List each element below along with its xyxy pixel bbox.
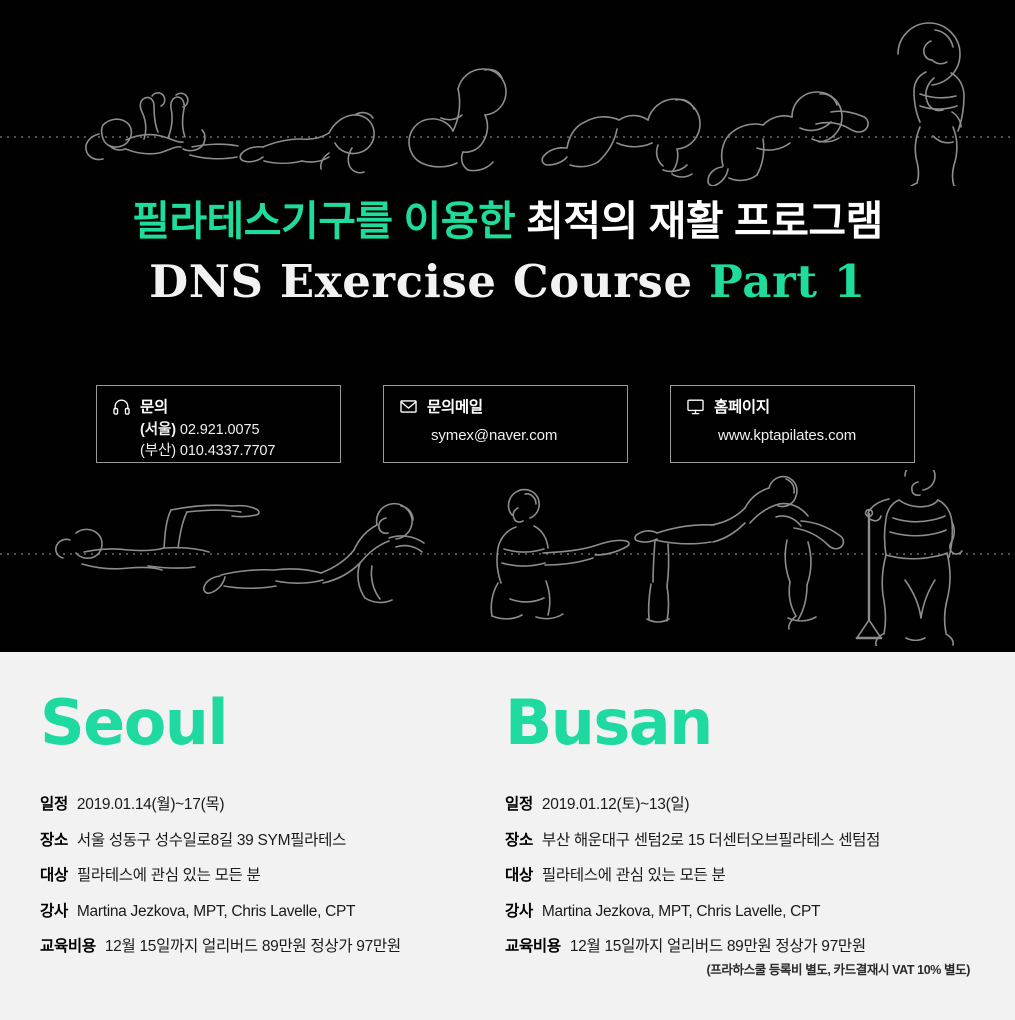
- headline-english: DNS Exercise Course Part 1: [0, 257, 1015, 307]
- contact-box-website-title: 홈페이지: [714, 395, 770, 417]
- contact-box-website-body: www.kptapilates.com: [686, 425, 914, 446]
- baby-kneeling-icon: [708, 92, 868, 186]
- course-row-schedule: 일정 2019.01.14(월)~17(목): [40, 796, 500, 815]
- baby-prone-icon: [190, 113, 374, 173]
- contact-boxes: 문의 (서울) 02.921.0075 (부산) 010.4337.7707: [0, 385, 1015, 465]
- course-row-fee: 교육비용 12월 15일까지 얼리버드 89만원 정상가 97만원: [40, 938, 500, 957]
- hero-section: 필라테스기구를 이용한 최적의 재활 프로그램 DNS Exercise Cou…: [0, 0, 1015, 652]
- city-heading-busan: Busan: [505, 692, 995, 754]
- contact-box-phone-header: 문의: [112, 395, 340, 417]
- phone-line-busan: (부산) 010.4337.7707: [140, 441, 340, 462]
- course-rows-busan: 일정 2019.01.12(토)~13(일) 장소 부산 해운대구 센텀2로 1…: [505, 796, 995, 957]
- city-heading-seoul: Seoul: [40, 692, 500, 754]
- course-row-instructor: 강사 Martina Jezkova, MPT, Chris Lavelle, …: [40, 903, 500, 922]
- course-column-seoul: Seoul 일정 2019.01.14(월)~17(목) 장소 서울 성동구 성…: [40, 652, 500, 974]
- row-label: 교육비용: [40, 938, 96, 957]
- infant-development-illustration: [0, 6, 1015, 186]
- headline-korean: 필라테스기구를 이용한 최적의 재활 프로그램: [0, 196, 1015, 246]
- fee-footnote: (프라하스쿨 등록비 별도, 카드결재시 VAT 10% 별도): [707, 959, 971, 978]
- course-row-instructor: 강사 Martina Jezkova, MPT, Chris Lavelle, …: [505, 903, 995, 922]
- monitor-icon: [686, 397, 705, 416]
- phone-line-seoul: (서울) 02.921.0075: [140, 420, 340, 441]
- baby-standing-icon: [898, 23, 964, 186]
- pilates-standing-band-icon: [857, 470, 962, 646]
- website-url[interactable]: www.kptapilates.com: [718, 425, 914, 446]
- row-label: 장소: [40, 832, 68, 851]
- course-row-venue: 장소 서울 성동구 성수일로8길 39 SYM필라테스: [40, 832, 500, 851]
- row-value: 필라테스에 관심 있는 모든 분: [77, 867, 261, 886]
- row-value: 부산 해운대구 센텀2로 15 더센터오브필라테스 센텀점: [542, 832, 880, 851]
- row-label: 일정: [40, 796, 68, 815]
- row-value: 12월 15일까지 얼리버드 89만원 정상가 97만원: [570, 938, 866, 957]
- baby-supine-icon: [86, 93, 205, 160]
- headline-block: 필라테스기구를 이용한 최적의 재활 프로그램 DNS Exercise Cou…: [0, 196, 1015, 307]
- row-label: 대상: [40, 867, 68, 886]
- contact-box-phone[interactable]: 문의 (서울) 02.921.0075 (부산) 010.4337.7707: [96, 385, 341, 463]
- contact-box-email[interactable]: 문의메일 symex@naver.com: [383, 385, 628, 463]
- row-label: 강사: [40, 903, 68, 922]
- course-info-section: Seoul 일정 2019.01.14(월)~17(목) 장소 서울 성동구 성…: [0, 652, 1015, 1020]
- contact-box-phone-body: (서울) 02.921.0075 (부산) 010.4337.7707: [112, 420, 340, 461]
- baby-crawling-icon: [542, 99, 700, 177]
- baby-sitting-icon: [409, 69, 506, 171]
- envelope-icon: [399, 397, 418, 416]
- headline-english-white: DNS Exercise Course: [149, 255, 693, 308]
- row-label: 교육비용: [505, 938, 561, 957]
- course-row-audience: 대상 필라테스에 관심 있는 모든 분: [505, 867, 995, 886]
- row-value: 12월 15일까지 얼리버드 89만원 정상가 97만원: [105, 938, 401, 957]
- pilates-progression-illustration: [0, 470, 1015, 646]
- pilates-standing-leg-lift-icon: [635, 477, 843, 629]
- row-label: 대상: [505, 867, 533, 886]
- row-value: Martina Jezkova, MPT, Chris Lavelle, CPT: [77, 903, 355, 922]
- course-row-venue: 장소 부산 해운대구 센텀2로 15 더센터오브필라테스 센텀점: [505, 832, 995, 851]
- row-value: 2019.01.14(월)~17(목): [77, 796, 224, 815]
- row-label: 강사: [505, 903, 533, 922]
- course-row-fee: 교육비용 12월 15일까지 얼리버드 89만원 정상가 97만원: [505, 938, 995, 957]
- contact-box-website[interactable]: 홈페이지 www.kptapilates.com: [670, 385, 915, 463]
- row-value: 2019.01.12(토)~13(일): [542, 796, 689, 815]
- phone-label-seoul: (서울): [140, 422, 176, 438]
- headline-korean-green: 필라테스기구를 이용한: [132, 198, 515, 244]
- headline-korean-white: 최적의 재활 프로그램: [526, 198, 883, 244]
- course-row-audience: 대상 필라테스에 관심 있는 모든 분: [40, 867, 500, 886]
- email-address[interactable]: symex@naver.com: [431, 425, 627, 446]
- course-rows-seoul: 일정 2019.01.14(월)~17(목) 장소 서울 성동구 성수일로8길 …: [40, 796, 500, 957]
- phone-label-busan: (부산): [140, 443, 176, 459]
- contact-box-email-title: 문의메일: [427, 395, 483, 417]
- row-value: 서울 성동구 성수일로8길 39 SYM필라테스: [77, 832, 346, 851]
- row-label: 일정: [505, 796, 533, 815]
- poster: 필라테스기구를 이용한 최적의 재활 프로그램 DNS Exercise Cou…: [0, 0, 1015, 1020]
- pilates-supine-icon: [56, 505, 259, 570]
- course-column-busan: Busan 일정 2019.01.12(토)~13(일) 장소 부산 해운대구 …: [505, 652, 995, 974]
- row-label: 장소: [505, 832, 533, 851]
- contact-box-email-body: symex@naver.com: [399, 425, 627, 446]
- pilates-prone-icon: [204, 504, 424, 603]
- contact-box-website-header: 홈페이지: [686, 395, 914, 417]
- headline-english-green: Part 1: [709, 255, 866, 308]
- contact-box-phone-title: 문의: [140, 395, 168, 417]
- phone-value-busan: 010.4337.7707: [180, 443, 275, 459]
- headphones-icon: [112, 397, 131, 416]
- phone-value-seoul: 02.921.0075: [180, 422, 260, 438]
- row-value: 필라테스에 관심 있는 모든 분: [542, 867, 726, 886]
- course-row-schedule: 일정 2019.01.12(토)~13(일): [505, 796, 995, 815]
- row-value: Martina Jezkova, MPT, Chris Lavelle, CPT: [542, 903, 820, 922]
- contact-box-email-header: 문의메일: [399, 395, 627, 417]
